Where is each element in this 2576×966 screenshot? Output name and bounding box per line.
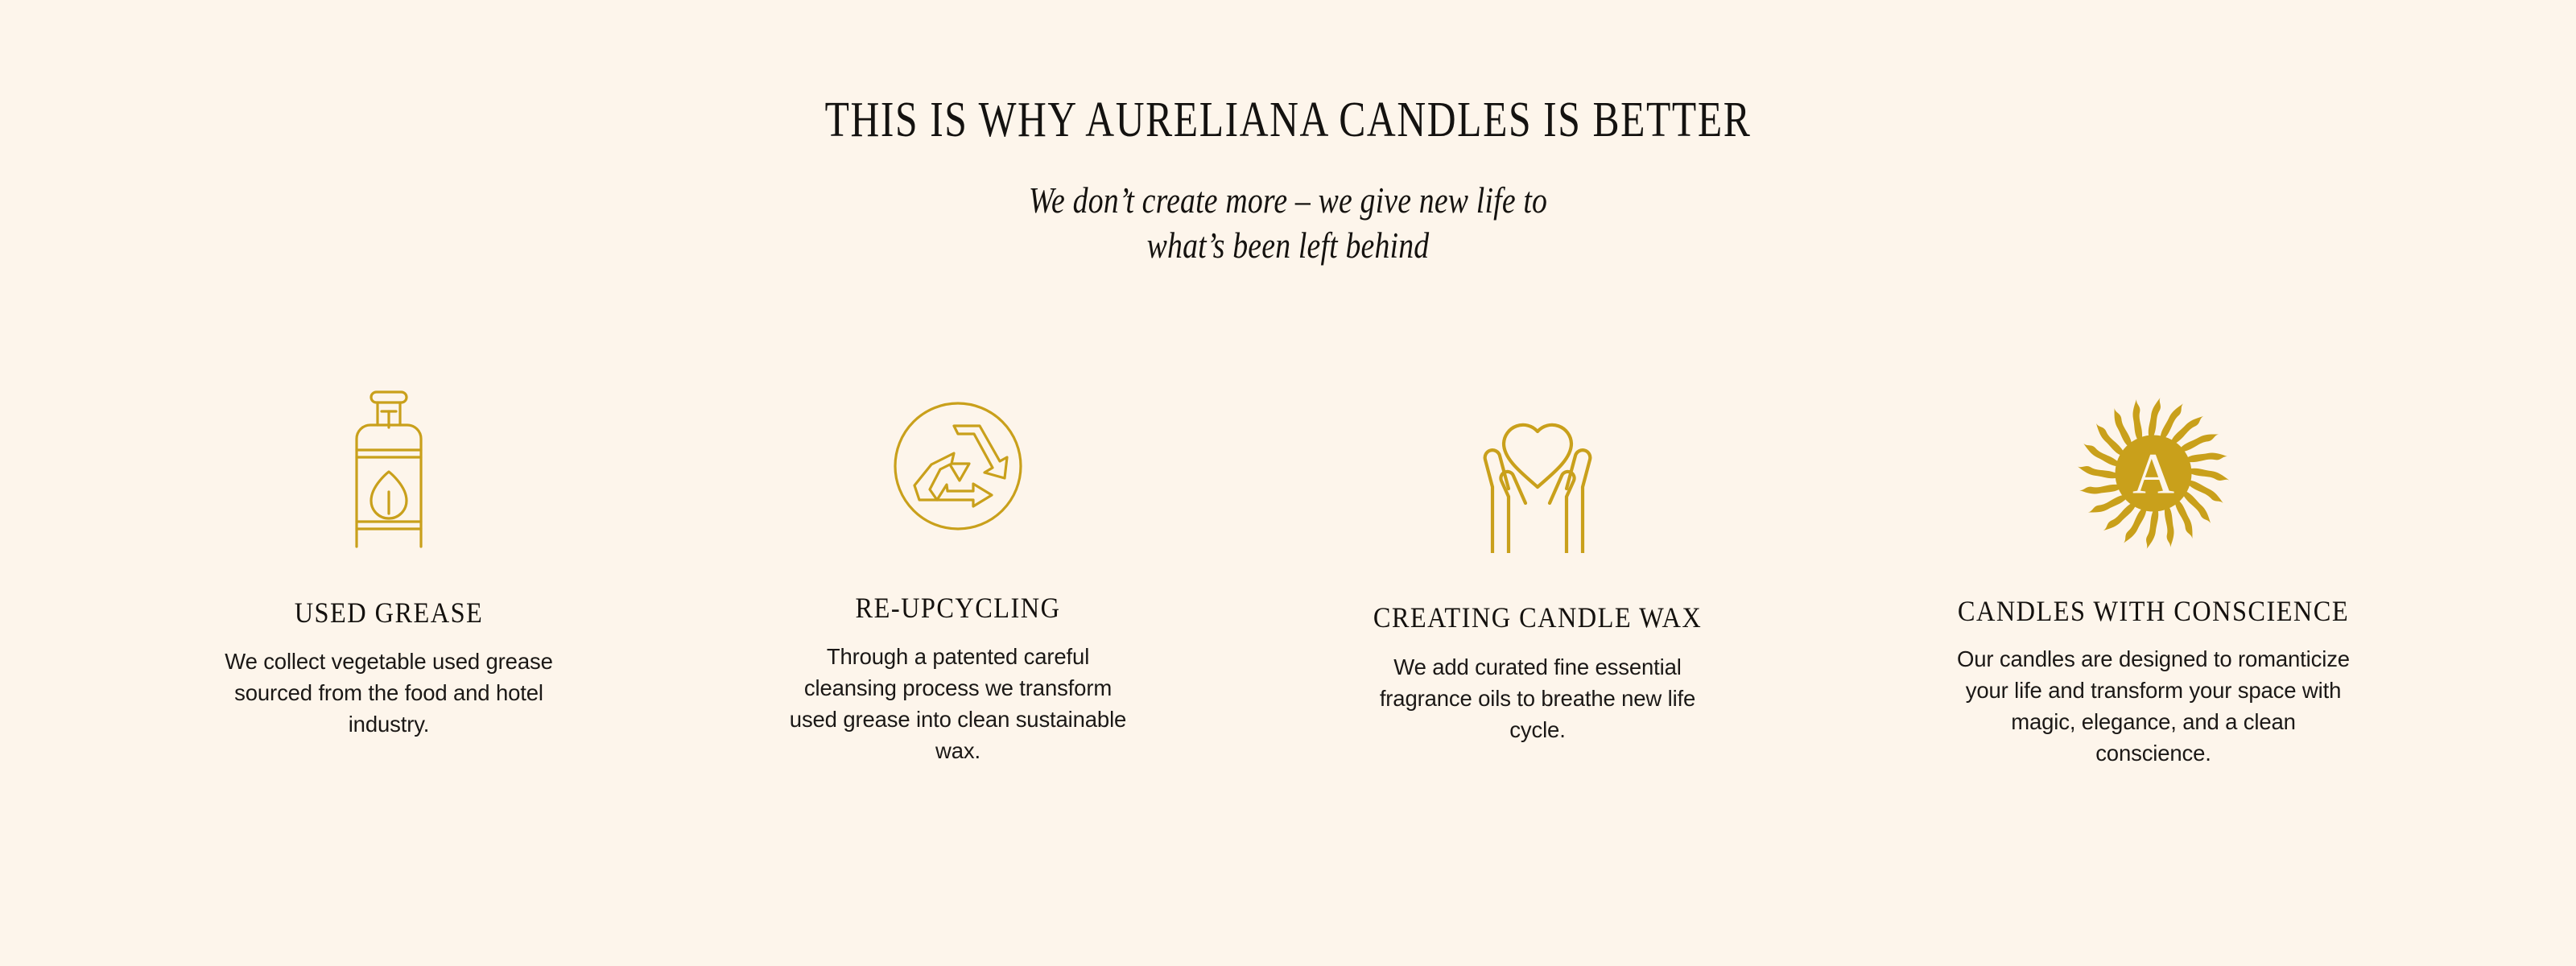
feature-description: We collect vegetable used grease sourced… [220,646,558,740]
icon-slot: A [1928,366,2379,550]
hands-holding-heart-icon [1459,410,1616,553]
subtitle-line-1: We don’t create more – we give new life … [1029,180,1547,221]
feature-description: We add curated fine essential fragrance … [1360,651,1715,745]
sunburst-monogram-a-icon: A [2077,397,2230,550]
page-title: THIS IS WHY AURELIANA CANDLES IS BETTER [258,95,2318,145]
grease-canister-leaf-icon [344,389,434,550]
feature-columns: USED GREASE We collect vegetable used gr… [0,366,2576,849]
feature-column-candles-with-conscience: A CANDLES WITH CONSCIENCE Our candles ar… [1928,366,2379,769]
section-header: THIS IS WHY AURELIANA CANDLES IS BETTER … [0,95,2576,269]
feature-title: RE-UPCYCLING [755,593,1161,622]
feature-title: CANDLES WITH CONSCIENCE [1951,597,2356,625]
feature-column-creating-candle-wax: CREATING CANDLE WAX We add curated fine … [1312,366,1763,745]
why-better-section: THIS IS WHY AURELIANA CANDLES IS BETTER … [0,0,2576,966]
icon-slot [1312,366,1763,553]
feature-title: CREATING CANDLE WAX [1335,603,1740,632]
icon-slot [733,366,1183,545]
feature-column-used-grease: USED GREASE We collect vegetable used gr… [163,366,614,740]
subtitle-line-2: what’s been left behind [206,224,2370,269]
feature-title: USED GREASE [186,598,592,627]
icon-slot [163,366,614,550]
feature-description: Through a patented careful cleansing pro… [785,641,1131,766]
section-subtitle: We don’t create more – we give new life … [206,179,2370,269]
feature-description: Our candles are designed to romanticize … [1952,643,2355,769]
recycling-circle-icon [879,387,1037,545]
feature-column-re-upcycling: RE-UPCYCLING Through a patented careful … [733,366,1183,766]
svg-text:A: A [2132,442,2174,506]
